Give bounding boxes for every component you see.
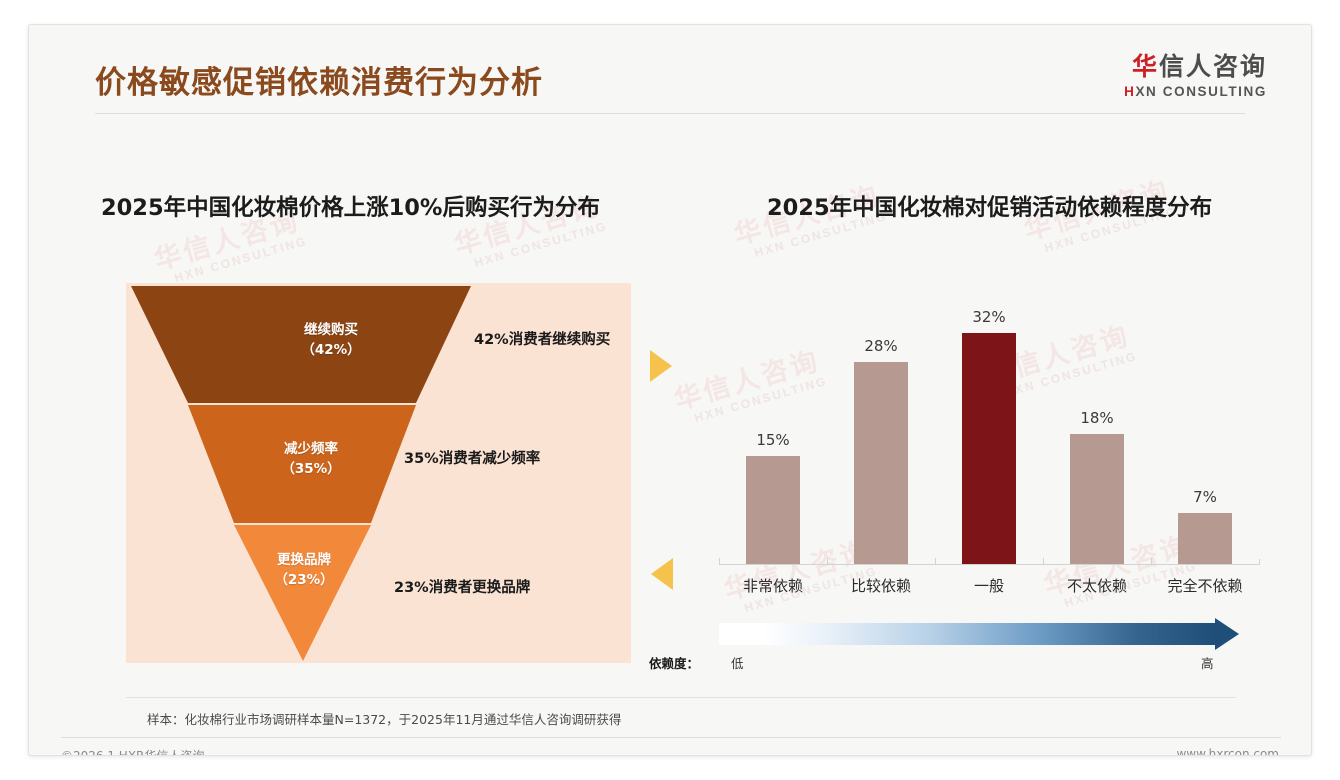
- x-axis-label: 非常依赖: [743, 575, 803, 596]
- x-axis-label: 完全不依赖: [1167, 575, 1242, 596]
- x-axis-tick: [1259, 559, 1260, 565]
- logo-english: HXN CONSULTING: [1124, 84, 1267, 99]
- bar-value-label: 32%: [972, 308, 1005, 326]
- x-axis-tick: [935, 558, 936, 564]
- bar-value-label: 18%: [1080, 409, 1113, 427]
- bar-group[interactable]: 28%比较依赖: [827, 304, 935, 564]
- play-left-icon: [651, 558, 673, 590]
- watermark-en: HXN CONSULTING: [473, 219, 609, 270]
- x-axis-tick: [719, 558, 720, 564]
- funnel-chart: 继续购买（42%） 减少频率（35%） 更换品牌（23%） 42%消费者继续购买…: [126, 283, 631, 663]
- gradient-arrow-head-icon: [1215, 618, 1239, 650]
- legend-low-label: 低: [731, 653, 744, 672]
- bar-plot-area: 15%非常依赖28%比较依赖32%一般18%不太依赖7%完全不依赖: [719, 305, 1259, 565]
- legend-title: 依赖度：: [649, 653, 699, 672]
- slide-header: 价格敏感促销依赖消费行为分析 华信人咨询 HXN CONSULTING: [29, 25, 1311, 117]
- x-axis-tick: [1151, 558, 1152, 564]
- logo-en-accent: H: [1124, 84, 1135, 99]
- bar-group[interactable]: 32%一般: [935, 304, 1043, 564]
- x-axis-tick: [1043, 558, 1044, 564]
- bar-2[interactable]: 28%: [854, 362, 908, 564]
- source-note: 样本：化妆棉行业市场调研样本量N=1372，于2025年11月通过华信人咨询调研…: [147, 709, 621, 728]
- logo-cn-rest: 信人咨询: [1159, 52, 1267, 81]
- slide-canvas: 华信人咨询HXN CONSULTING 华信人咨询HXN CONSULTING …: [28, 24, 1312, 756]
- logo-cn-accent: 华: [1132, 52, 1159, 81]
- footer-website: www.hxrcon.com: [1176, 747, 1279, 756]
- play-right-icon: [650, 350, 672, 382]
- watermark-en: HXN CONSULTING: [173, 234, 309, 285]
- bar-value-label: 15%: [756, 431, 789, 449]
- dependency-scale-legend: 依赖度： 低 高: [691, 623, 1271, 681]
- footer-divider: [61, 737, 1281, 738]
- bar-group[interactable]: 7%完全不依赖: [1151, 304, 1259, 564]
- x-axis-label: 比较依赖: [851, 575, 911, 596]
- bar-5[interactable]: 7%: [1178, 513, 1232, 564]
- left-panel-heading: 2025年中国化妆棉价格上涨10%后购买行为分布: [101, 190, 600, 222]
- source-divider: [126, 697, 1236, 698]
- bar-4[interactable]: 18%: [1070, 434, 1124, 564]
- footer-copyright: ©2026.1 HXR华信人咨询: [61, 747, 204, 756]
- logo-en-rest: XN CONSULTING: [1135, 84, 1267, 99]
- bar-group[interactable]: 18%不太依赖: [1043, 304, 1151, 564]
- logo-chinese: 华信人咨询: [1124, 53, 1267, 81]
- legend-high-label: 高: [1201, 653, 1214, 672]
- x-axis-line: [719, 564, 1259, 565]
- gradient-bar: [719, 623, 1216, 645]
- header-divider: [95, 113, 1245, 114]
- funnel-segment-1: [131, 286, 471, 403]
- x-axis-label: 不太依赖: [1067, 575, 1127, 596]
- bar-value-label: 7%: [1193, 488, 1217, 506]
- page-title: 价格敏感促销依赖消费行为分析: [95, 57, 543, 102]
- funnel-svg: [126, 283, 631, 663]
- bar-group[interactable]: 15%非常依赖: [719, 304, 827, 564]
- x-axis-label: 一般: [974, 575, 1004, 596]
- x-axis-tick: [827, 558, 828, 564]
- bar-1[interactable]: 15%: [746, 456, 800, 564]
- right-panel-heading: 2025年中国化妆棉对促销活动依赖程度分布: [767, 190, 1212, 222]
- bar-3[interactable]: 32%: [962, 333, 1016, 564]
- bar-value-label: 28%: [864, 337, 897, 355]
- company-logo: 华信人咨询 HXN CONSULTING: [1124, 53, 1267, 99]
- dependency-bar-chart: 15%非常依赖28%比较依赖32%一般18%不太依赖7%完全不依赖: [691, 295, 1271, 595]
